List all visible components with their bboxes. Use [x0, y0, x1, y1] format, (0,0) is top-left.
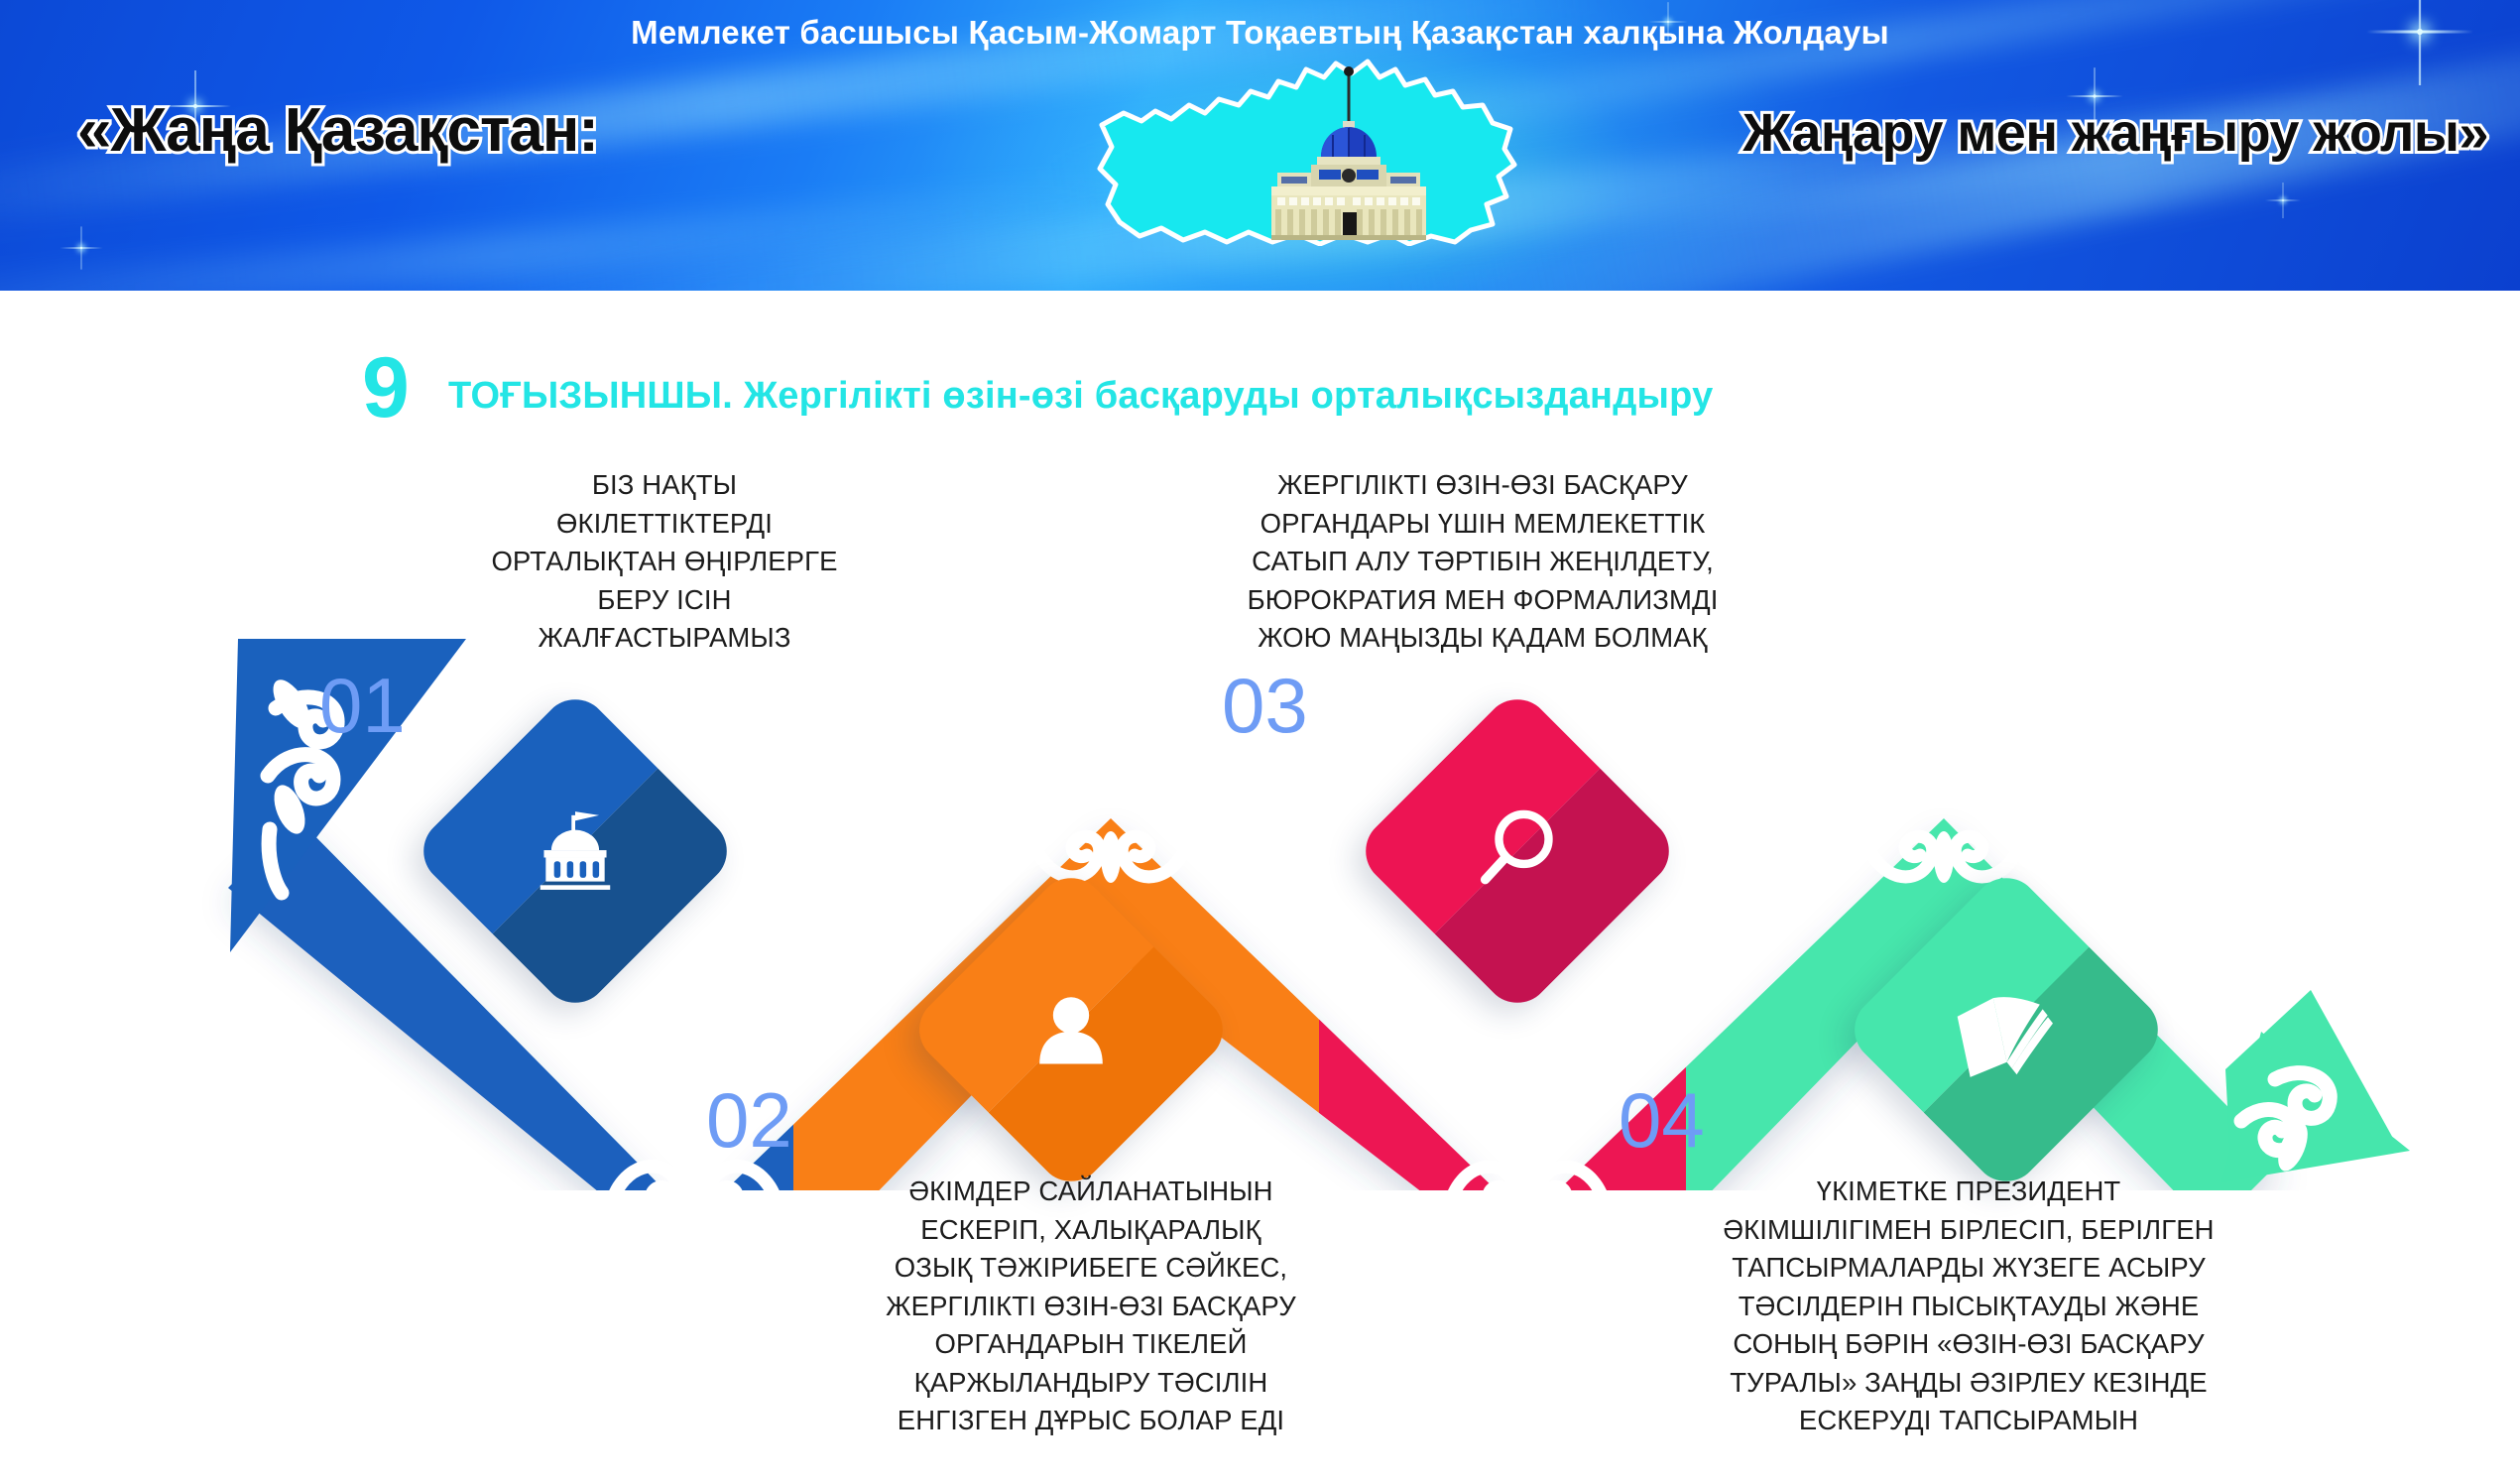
- text-line: ОРТАЛЫҚТАН ӨҢІРЛЕРГЕ: [387, 543, 942, 581]
- sparkle-icon: [2282, 199, 2284, 201]
- text-line: ЕНГІЗГЕН ДҰРЫС БОЛАР ЕДІ: [783, 1402, 1398, 1440]
- text-line: ӨКІЛЕТТІКТЕРДІ: [387, 505, 942, 544]
- kazakh-ornament: [594, 1160, 794, 1190]
- text-line: ЖЕРГІЛІКТІ ӨЗІН-ӨЗІ БАСҚАРУ: [783, 1288, 1398, 1326]
- text-line: ЕСКЕРІП, ХАЛЫҚАРАЛЫҚ: [783, 1211, 1398, 1250]
- text-line: ЖАЛҒАСТЫРАМЫЗ: [387, 619, 942, 658]
- infographic-page: Мемлекет басшысы Қасым-Жомарт Тоқаевтың …: [0, 0, 2520, 1483]
- section-number: 9: [362, 345, 410, 431]
- akorda-palace-icon: [1260, 65, 1438, 240]
- header-banner: Мемлекет басшысы Қасым-Жомарт Тоқаевтың …: [0, 0, 2520, 291]
- step-text-03: ЖЕРГІЛІКТІ ӨЗІН-ӨЗІ БАСҚАРУОРГАНДАРЫ ҮШІ…: [1175, 466, 1790, 658]
- text-line: БЕРУ ІСІН: [387, 581, 942, 620]
- government-building-icon: [458, 734, 692, 968]
- text-line: ОЗЫҚ ТӘЖІРИБЕГЕ СӘЙКЕС,: [783, 1249, 1398, 1288]
- banner-subtitle: Мемлекет басшысы Қасым-Жомарт Тоқаевтың …: [0, 14, 2520, 52]
- step-number-03: 03: [1222, 667, 1308, 744]
- step-text-01: БІЗ НАҚТЫӨКІЛЕТТІКТЕРДІОРТАЛЫҚТАН ӨҢІРЛЕ…: [387, 466, 942, 658]
- kazakh-ornament: [1033, 831, 1188, 883]
- text-line: ӘКІМШІЛІГІМЕН БІРЛЕСІП, БЕРІЛГЕН: [1641, 1211, 2296, 1250]
- section-title: ТОҒЫЗЫНШЫ. Жергілікті өзін-өзі басқаруды…: [448, 375, 1713, 418]
- text-line: ОРГАНДАРЫН ТІКЕЛЕЙ: [783, 1325, 1398, 1364]
- text-line: ТАПСЫРМАЛАРДЫ ЖҮЗЕГЕ АСЫРУ: [1641, 1249, 2296, 1288]
- open-book-icon: [1889, 913, 2123, 1147]
- text-line: ТУРАЛЫ» ЗАҢДЫ ӘЗІРЛЕУ КЕЗІНДЕ: [1641, 1364, 2296, 1403]
- sparkle-icon: [2093, 94, 2096, 97]
- banner-headline-left: «Жаңа Қазақстан:: [77, 95, 598, 166]
- person-icon: [954, 913, 1188, 1147]
- text-line: ЖЕРГІЛІКТІ ӨЗІН-ӨЗІ БАСҚАРУ: [1175, 466, 1790, 505]
- step-text-04: ҮКІМЕТКЕ ПРЕЗИДЕНТӘКІМШІЛІГІМЕН БІРЛЕСІП…: [1641, 1173, 2296, 1440]
- text-line: СОНЫҢ БӘРІН «ӨЗІН-ӨЗІ БАСҚАРУ: [1641, 1325, 2296, 1364]
- magnifier-icon: [1400, 734, 1634, 968]
- text-line: БІЗ НАҚТЫ: [387, 466, 942, 505]
- banner-headline-right: Жаңару мен жаңғыру жолы»: [1742, 102, 2488, 164]
- text-line: ОРГАНДАРЫ ҮШІН МЕМЛЕКЕТТІК: [1175, 505, 1790, 544]
- step-number-02: 02: [706, 1081, 792, 1159]
- text-line: ҮКІМЕТКЕ ПРЕЗИДЕНТ: [1641, 1173, 2296, 1211]
- step-number-04: 04: [1619, 1081, 1705, 1159]
- text-line: ЕСКЕРУДІ ТАПСЫРАМЫН: [1641, 1402, 2296, 1440]
- text-line: ЖОЮ МАҢЫЗДЫ ҚАДАМ БОЛМАҚ: [1175, 619, 1790, 658]
- step-text-02: ӘКІМДЕР САЙЛАНАТЫНЫНЕСКЕРІП, ХАЛЫҚАРАЛЫҚ…: [783, 1173, 1398, 1440]
- sparkle-icon: [80, 247, 82, 249]
- step-number-01: 01: [319, 667, 406, 744]
- text-line: ТӘСІЛДЕРІН ПЫСЫҚТАУДЫ ЖӘНЕ: [1641, 1288, 2296, 1326]
- text-line: БЮРОКРАТИЯ МЕН ФОРМАЛИЗМДІ: [1175, 581, 1790, 620]
- ornament-arrowhead-right-icon: [2221, 990, 2410, 1182]
- text-line: ҚАРЖЫЛАНДЫРУ ТӘСІЛІН: [783, 1364, 1398, 1403]
- text-line: ӘКІМДЕР САЙЛАНАТЫНЫН: [783, 1173, 1398, 1211]
- text-line: САТЫП АЛУ ТӘРТІБІН ЖЕҢІЛДЕТУ,: [1175, 543, 1790, 581]
